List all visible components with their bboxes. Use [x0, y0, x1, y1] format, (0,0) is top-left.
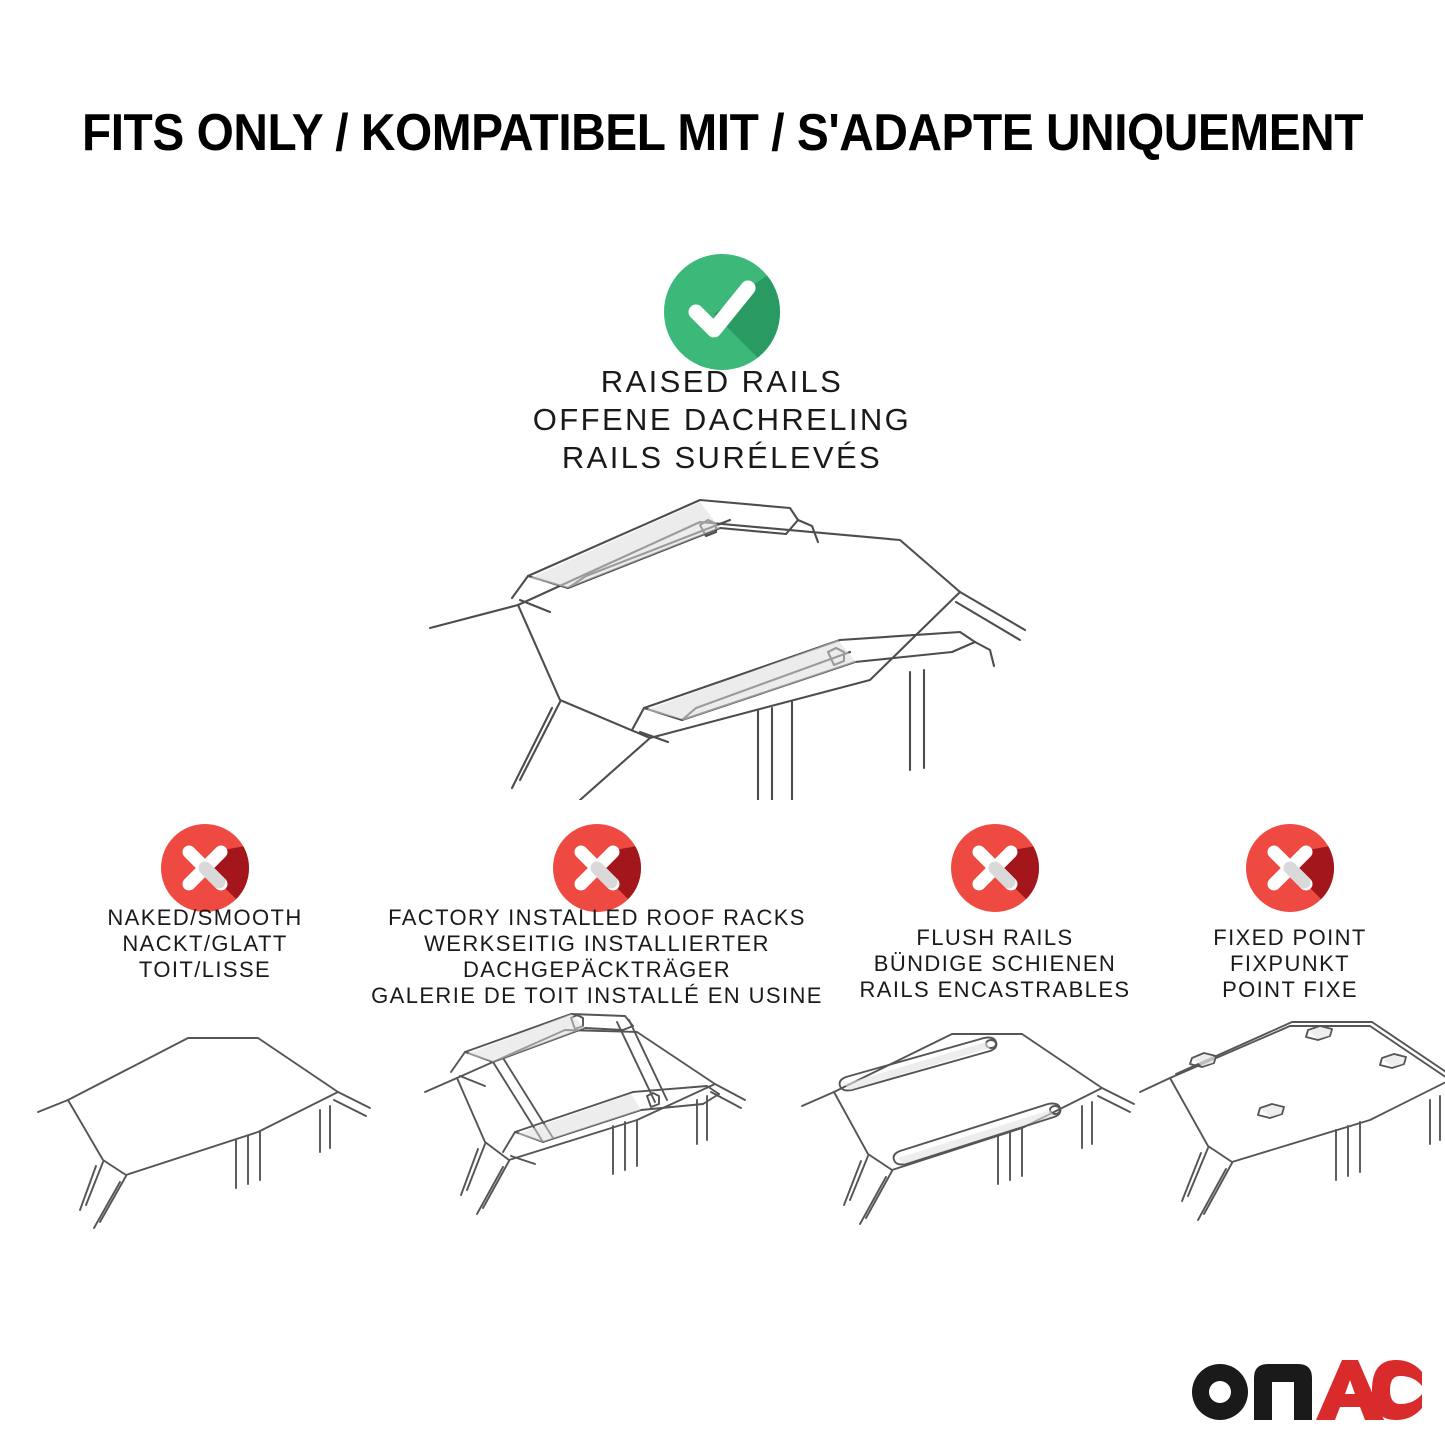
red-x-icon	[951, 824, 1039, 912]
incompatible-label-line: FIXPUNKT	[1155, 951, 1425, 977]
incompatible-label-line: TOIT/LISSE	[55, 957, 355, 983]
naked-smooth-roof-illustration	[8, 1000, 408, 1255]
red-x-icon	[1246, 824, 1334, 912]
incompatible-label-factory-racks: FACTORY INSTALLED ROOF RACKS WERKSEITIG …	[357, 905, 837, 1009]
red-x-icon	[553, 824, 641, 912]
incompatible-label-naked-smooth: NAKED/SMOOTH NACKT/GLATT TOIT/LISSE	[55, 905, 355, 983]
compatibility-infographic: FITS ONLY / KOMPATIBEL MIT / S'ADAPTE UN…	[0, 0, 1445, 1445]
incompatible-label-fixed-point: FIXED POINT FIXPUNKT POINT FIXE	[1155, 925, 1425, 1003]
fixed-point-roof-illustration	[1130, 1000, 1445, 1255]
compatible-label-line: RAISED RAILS	[372, 363, 1072, 401]
incompatible-label-line: FIXED POINT	[1155, 925, 1425, 951]
flush-rails-roof-illustration	[772, 1000, 1172, 1255]
compatible-label-line: OFFENE DACHRELING	[372, 401, 1072, 439]
incompatible-label-line: FLUSH RAILS	[845, 925, 1145, 951]
omac-logo	[1190, 1356, 1422, 1422]
incompatible-label-line: DACHGEPÄCKTRÄGER	[357, 957, 837, 983]
incompatible-label-line: NAKED/SMOOTH	[55, 905, 355, 931]
compatible-label: RAISED RAILS OFFENE DACHRELING RAILS SUR…	[372, 363, 1072, 477]
logo-letter-o	[1192, 1364, 1248, 1420]
red-x-icon	[161, 824, 249, 912]
incompatible-label-line: NACKT/GLATT	[55, 931, 355, 957]
compatible-label-line: RAILS SURÉLEVÉS	[372, 439, 1072, 477]
incompatible-label-line: FACTORY INSTALLED ROOF RACKS	[357, 905, 837, 931]
incompatible-label-flush-rails: FLUSH RAILS BÜNDIGE SCHIENEN RAILS ENCAS…	[845, 925, 1145, 1003]
incompatible-label-line: WERKSEITIG INSTALLIERTER	[357, 931, 837, 957]
logo-letter-c	[1372, 1360, 1422, 1420]
green-check-icon	[664, 254, 780, 370]
raised-rails-roof-illustration	[400, 480, 1060, 800]
factory-roof-rack-illustration	[385, 1000, 785, 1255]
page-title: FITS ONLY / KOMPATIBEL MIT / S'ADAPTE UN…	[58, 103, 1387, 163]
incompatible-label-line: BÜNDIGE SCHIENEN	[845, 951, 1145, 977]
logo-letter-m	[1254, 1364, 1312, 1420]
